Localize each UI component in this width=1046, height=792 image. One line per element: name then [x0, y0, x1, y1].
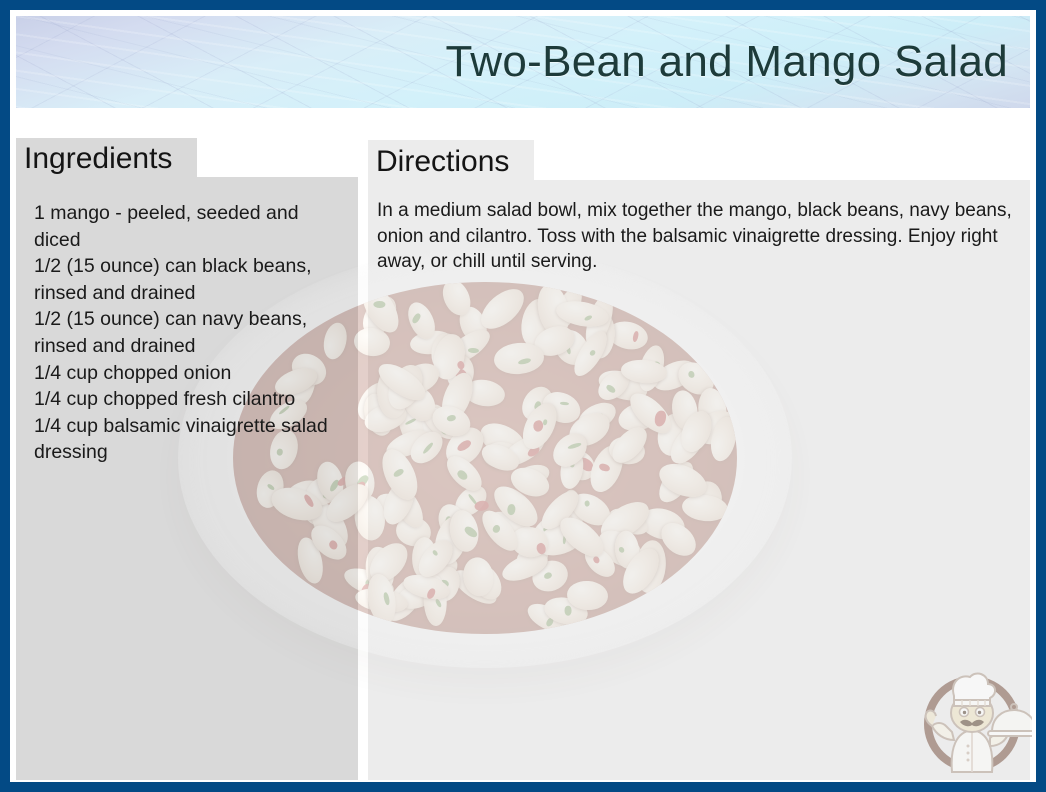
list-item: 1 mango - peeled, seeded and diced: [34, 200, 350, 253]
ingredients-column: Ingredients 1 mango - peeled, seeded and…: [16, 120, 358, 780]
directions-heading: Directions: [376, 145, 509, 179]
directions-heading-box: Directions: [368, 140, 534, 181]
list-item: 1/2 (15 ounce) can black beans, rinsed a…: [34, 253, 350, 306]
chef-logo: [912, 660, 1032, 780]
list-item: 1/4 cup chopped onion: [34, 360, 350, 387]
list-item: 1/4 cup balsamic vinaigrette salad dress…: [34, 413, 350, 466]
title-banner: Two-Bean and Mango Salad: [16, 16, 1030, 108]
list-item: 1/4 cup chopped fresh cilantro: [34, 386, 350, 413]
ingredients-heading-box: Ingredients: [16, 138, 197, 178]
recipe-slide: Two-Bean and Mango Salad Ingredients 1 m…: [0, 0, 1046, 792]
directions-text: In a medium salad bowl, mix together the…: [377, 198, 1025, 275]
page-title: Two-Bean and Mango Salad: [446, 37, 1008, 87]
content-columns: Ingredients 1 mango - peeled, seeded and…: [16, 120, 1030, 780]
ingredients-list: 1 mango - peeled, seeded and diced 1/2 (…: [34, 200, 350, 466]
list-item: 1/2 (15 ounce) can navy beans, rinsed an…: [34, 306, 350, 359]
ingredients-heading: Ingredients: [24, 142, 172, 176]
